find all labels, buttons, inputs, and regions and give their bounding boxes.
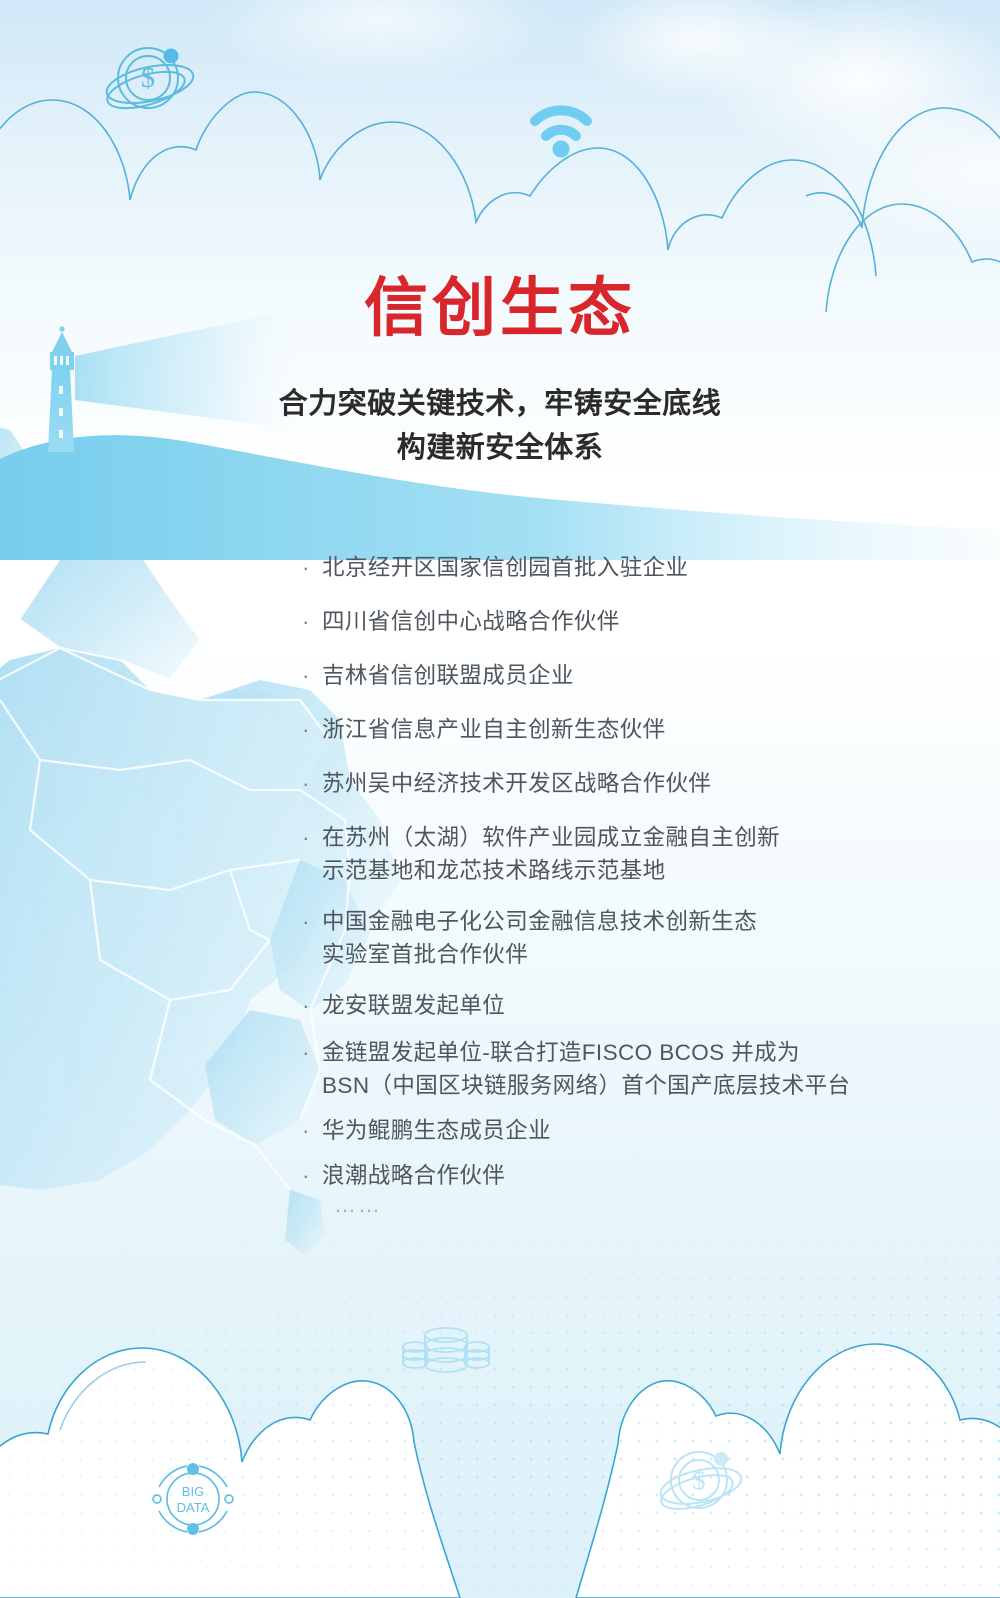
list-item: · 龙安联盟发起单位: [300, 989, 940, 1022]
list-item-line: 龙安联盟发起单位: [322, 989, 940, 1022]
list-item-line: 中国金融电子化公司金融信息技术创新生态: [322, 905, 940, 938]
page-title: 信创生态: [0, 276, 1000, 340]
bullet-marker-icon: ·: [302, 767, 310, 800]
bullet-marker-icon: ·: [302, 551, 310, 584]
bullet-marker-icon: ·: [302, 989, 310, 1022]
list-item-line: 示范基地和龙芯技术路线示范基地: [322, 854, 940, 887]
list-item-line: 华为鲲鹏生态成员企业: [322, 1114, 940, 1147]
list-item-line: 金链盟发起单位-联合打造FISCO BCOS 并成为: [322, 1036, 940, 1069]
subtitle-line-2: 构建新安全体系: [0, 427, 1000, 471]
list-item: · 华为鲲鹏生态成员企业: [300, 1114, 940, 1147]
bullet-marker-icon: ·: [302, 1036, 310, 1069]
list-item-line: 四川省信创中心战略合作伙伴: [322, 605, 940, 638]
list-item: · 在苏州（太湖）软件产业园成立金融自主创新 示范基地和龙芯技术路线示范基地: [300, 821, 940, 887]
bullet-marker-icon: ·: [302, 659, 310, 692]
bullet-marker-icon: ·: [302, 605, 310, 638]
poster-content: 信创生态 合力突破关键技术，牢铸安全底线 构建新安全体系 · 北京经开区国家信创…: [0, 0, 1000, 1598]
list-item-line: 浙江省信息产业自主创新生态伙伴: [322, 713, 940, 746]
subtitle-line-1: 合力突破关键技术，牢铸安全底线: [0, 383, 1000, 427]
list-item-line: 在苏州（太湖）软件产业园成立金融自主创新: [322, 821, 940, 854]
bullet-marker-icon: ·: [302, 1159, 310, 1192]
list-item: · 金链盟发起单位-联合打造FISCO BCOS 并成为 BSN（中国区块链服务…: [300, 1036, 940, 1102]
achievement-list: · 北京经开区国家信创园首批入驻企业 · 四川省信创中心战略合作伙伴 · 吉林省…: [300, 551, 940, 1218]
poster-canvas: $: [0, 0, 1000, 1598]
list-item-line: 实验室首批合作伙伴: [322, 938, 940, 971]
list-item-line: 苏州吴中经济技术开发区战略合作伙伴: [322, 767, 940, 800]
list-item: · 苏州吴中经济技术开发区战略合作伙伴: [300, 767, 940, 800]
list-item: · 四川省信创中心战略合作伙伴: [300, 605, 940, 638]
bullet-marker-icon: ·: [302, 821, 310, 854]
list-item: · 吉林省信创联盟成员企业: [300, 659, 940, 692]
bullet-marker-icon: ·: [302, 713, 310, 746]
list-item: · 浪潮战略合作伙伴: [300, 1159, 940, 1192]
list-item-line: BSN（中国区块链服务网络）首个国产底层技术平台: [322, 1069, 940, 1102]
list-item-line: 北京经开区国家信创园首批入驻企业: [322, 551, 940, 584]
list-item-line: 吉林省信创联盟成员企业: [322, 659, 940, 692]
list-item: · 北京经开区国家信创园首批入驻企业: [300, 551, 940, 584]
bullet-marker-icon: ·: [302, 1114, 310, 1147]
list-item: · 中国金融电子化公司金融信息技术创新生态 实验室首批合作伙伴: [300, 905, 940, 971]
page-subtitle: 合力突破关键技术，牢铸安全底线 构建新安全体系: [0, 383, 1000, 470]
list-item-line: 浪潮战略合作伙伴: [322, 1159, 940, 1192]
list-continuation-ellipsis: ……: [334, 1192, 940, 1218]
list-item: · 浙江省信息产业自主创新生态伙伴: [300, 713, 940, 746]
bullet-marker-icon: ·: [302, 905, 310, 938]
